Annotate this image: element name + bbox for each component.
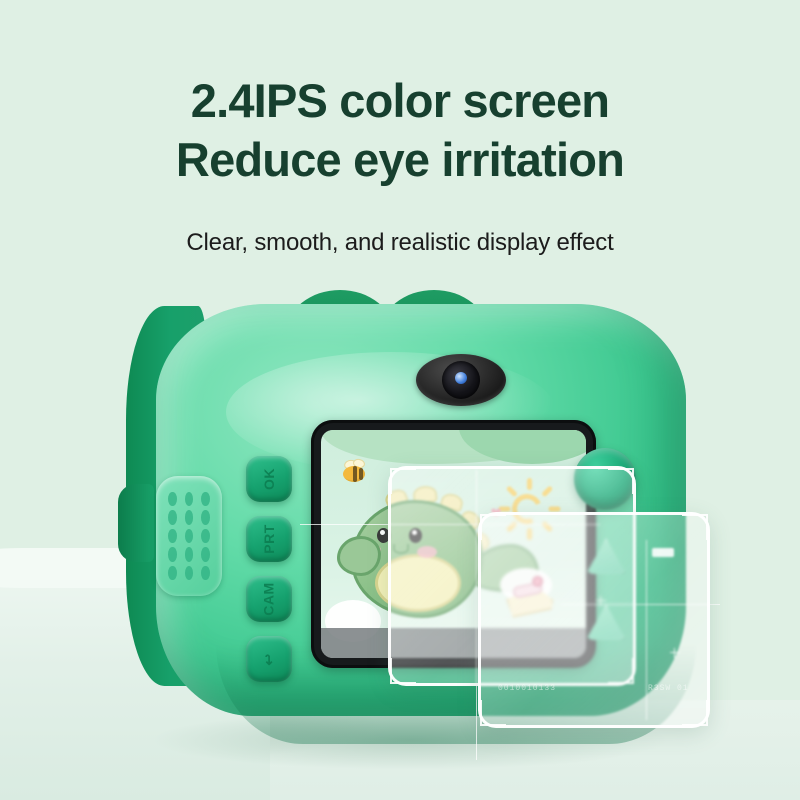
back-button-label: ↩ (260, 653, 277, 665)
print-button-label: PRT (261, 524, 277, 554)
lens-housing (416, 354, 506, 406)
watermark-left: 0010010133 (498, 684, 556, 693)
camera-lens-icon (442, 361, 480, 399)
photo-mode-button-label: CAM (261, 582, 277, 615)
headline-line-2: Reduce eye irritation (0, 131, 800, 190)
ok-power-button-label: OK (261, 468, 277, 490)
left-button-column: OK PRT CAM ↩ (246, 456, 294, 696)
speaker-grille (156, 476, 222, 596)
camera-side-grip (118, 484, 154, 562)
screen-protector-film-front (478, 512, 710, 728)
bee-icon (339, 462, 369, 484)
photo-mode-button[interactable]: CAM (246, 576, 292, 622)
product-banner: 2.4IPS color screen Reduce eye irritatio… (0, 0, 800, 800)
back-button[interactable]: ↩ (246, 636, 292, 682)
page-title: 2.4IPS color screen Reduce eye irritatio… (0, 72, 800, 190)
page-subtitle: Clear, smooth, and realistic display eff… (0, 229, 800, 257)
headline-line-1: 2.4IPS color screen (191, 74, 609, 127)
watermark-right: R3SW 01 (648, 684, 689, 693)
ok-power-button[interactable]: OK (246, 456, 292, 502)
print-button[interactable]: PRT (246, 516, 292, 562)
